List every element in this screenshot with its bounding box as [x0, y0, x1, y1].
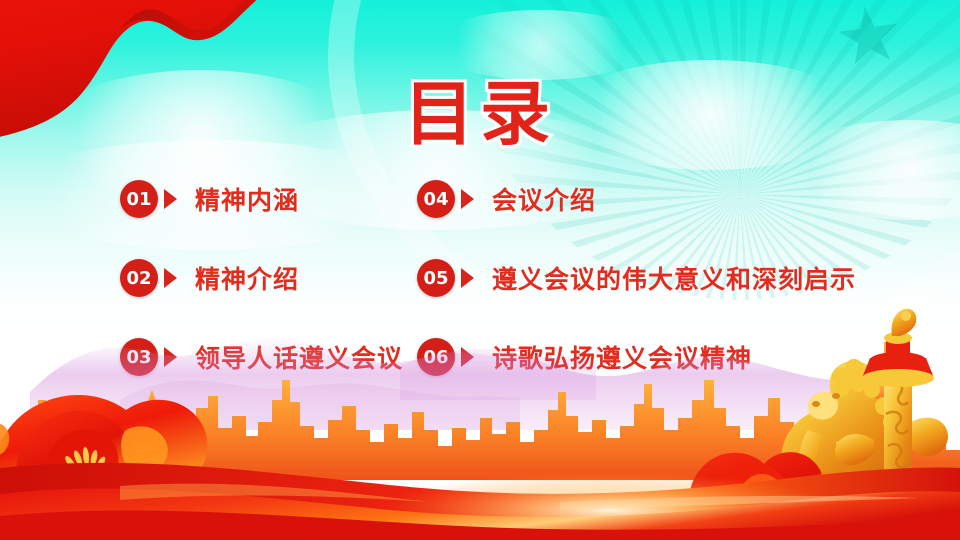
toc-number-badge: 05 — [417, 259, 455, 297]
toc-item-label: 精神内涵 — [195, 181, 299, 217]
toc-item-05[interactable]: 05 遵义会议的伟大意义和深刻启示 — [417, 259, 897, 297]
arrow-right-icon — [461, 347, 474, 367]
toc-left-column: 01 精神内涵 02 精神介绍 03 领导人话遵义会议 — [120, 180, 420, 417]
arrow-right-icon — [461, 189, 474, 209]
arrow-right-icon — [164, 189, 177, 209]
toc-item-label: 会议介绍 — [492, 181, 596, 217]
toc-item-06[interactable]: 06 诗歌弘扬遵义会议精神 — [417, 338, 897, 376]
toc-item-label: 精神介绍 — [195, 260, 299, 296]
arrow-right-icon — [461, 268, 474, 288]
toc-number-badge: 03 — [120, 338, 158, 376]
toc-number-badge: 02 — [120, 259, 158, 297]
toc-number-badge: 06 — [417, 338, 455, 376]
toc-right-column: 04 会议介绍 05 遵义会议的伟大意义和深刻启示 06 诗歌弘扬遵义会议精神 — [417, 180, 897, 417]
arrow-right-icon — [164, 347, 177, 367]
toc-number-badge: 04 — [417, 180, 455, 218]
table-of-contents: 01 精神内涵 02 精神介绍 03 领导人话遵义会议 04 会议介绍 — [0, 180, 960, 380]
toc-item-label: 遵义会议的伟大意义和深刻启示 — [492, 260, 856, 296]
toc-item-label: 领导人话遵义会议 — [195, 339, 403, 375]
toc-number-badge: 01 — [120, 180, 158, 218]
arrow-right-icon — [164, 268, 177, 288]
slide-canvas: 目录 01 精神内涵 02 精神介绍 03 领导人话遵义会议 04 — [0, 0, 960, 540]
toc-item-03[interactable]: 03 领导人话遵义会议 — [120, 338, 420, 376]
page-title: 目录 — [0, 58, 960, 159]
toc-item-02[interactable]: 02 精神介绍 — [120, 259, 420, 297]
toc-item-label: 诗歌弘扬遵义会议精神 — [492, 339, 752, 375]
toc-item-01[interactable]: 01 精神内涵 — [120, 180, 420, 218]
toc-item-04[interactable]: 04 会议介绍 — [417, 180, 897, 218]
